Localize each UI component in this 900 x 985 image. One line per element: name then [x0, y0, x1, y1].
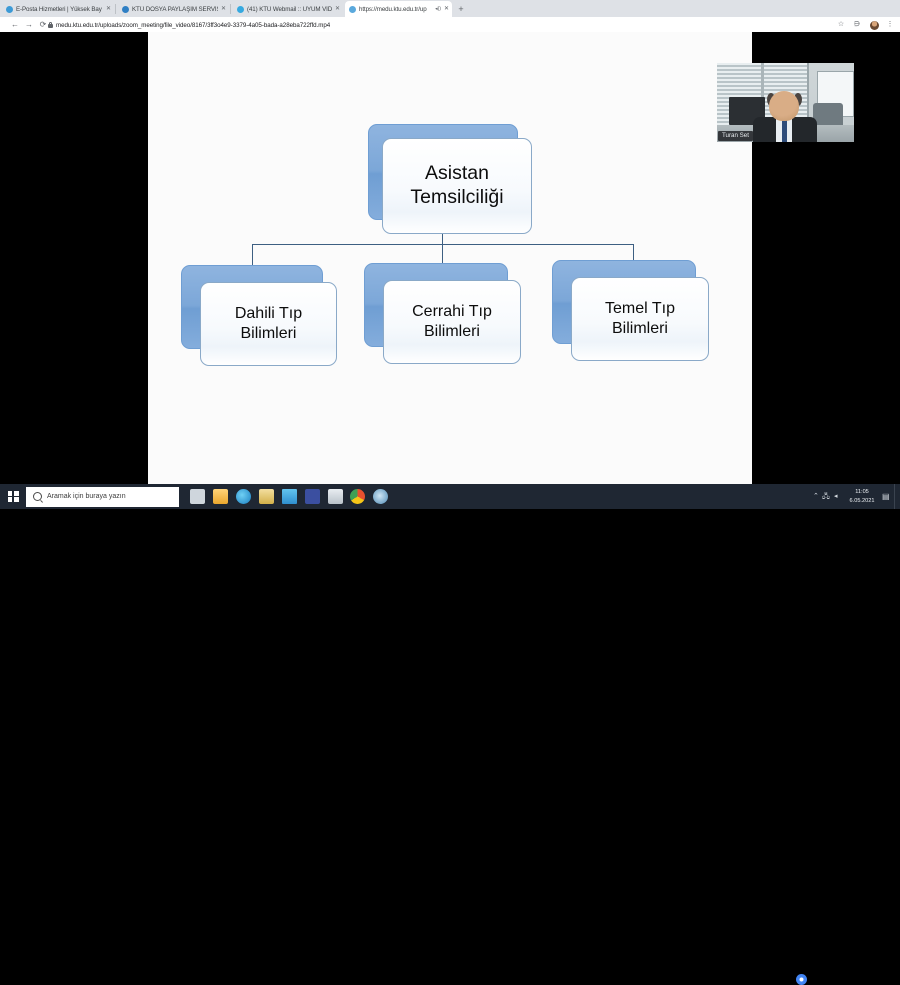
globe-favicon [6, 6, 13, 13]
tab-title: E-Posta Hizmetleri | Yüksek Bay [16, 6, 103, 13]
browser-toolbar: ← → ⟳ medu.ktu.edu.tr/uploads/zoom_meeti… [0, 17, 900, 32]
node-label: Dahili TıpBilimleri [229, 304, 308, 343]
tab-strip: E-Posta Hizmetleri | Yüksek Bay ✕ KTÜ DO… [0, 0, 900, 17]
lock-icon [48, 22, 53, 28]
tab-close-icon[interactable]: ✕ [106, 6, 111, 12]
node-card: AsistanTemsilciliği [382, 138, 532, 234]
browser-tab-2[interactable]: KTÜ DOSYA PAYLAŞIM SERVİSİ ✕ [118, 1, 229, 17]
webcam-overlay: Turan Set [717, 63, 854, 142]
tab-title: KTÜ DOSYA PAYLAŞIM SERVİSİ [132, 6, 218, 13]
tray-network-icon[interactable]: 🖧 [822, 492, 830, 501]
excel-icon[interactable] [328, 489, 343, 504]
browser-tab-4-active[interactable]: https://medu.ktu.edu.tr/up ◂)) ✕ [345, 1, 452, 17]
mail-icon[interactable] [282, 489, 297, 504]
tray-browser-icon[interactable] [796, 974, 807, 985]
globe-favicon [349, 6, 356, 13]
browser-tab-3[interactable]: (41) KTÜ Webmail :: UYUM VİDEO ✕ [233, 1, 343, 17]
node-card: Dahili TıpBilimleri [200, 282, 337, 366]
search-placeholder: Aramak için buraya yazın [47, 493, 126, 500]
connector-drop-left [252, 244, 253, 267]
profile-avatar[interactable] [870, 21, 879, 30]
google-chrome-icon[interactable] [350, 489, 365, 504]
node-card: Temel TıpBilimleri [571, 277, 709, 361]
powerpoint-icon[interactable] [305, 489, 320, 504]
tab-close-icon[interactable]: ✕ [444, 6, 449, 12]
video-player[interactable]: AsistanTemsilciliği Dahili TıpBilimleri … [148, 32, 752, 484]
participant-name-label: Turan Set [718, 131, 753, 141]
browser-chrome: E-Posta Hizmetleri | Yüksek Bay ✕ KTÜ DO… [0, 0, 900, 32]
tab-audio-icon[interactable]: ◂)) [435, 7, 441, 12]
address-bar-url: medu.ktu.edu.tr/uploads/zoom_meeting/fil… [56, 22, 330, 29]
tab-close-icon[interactable]: ✕ [221, 6, 226, 12]
org-node-child-2: Cerrahi TıpBilimleri [364, 263, 508, 347]
org-node-child-3: Temel TıpBilimleri [552, 260, 696, 344]
node-card: Cerrahi TıpBilimleri [383, 280, 521, 364]
slide-org-chart: AsistanTemsilciliği Dahili TıpBilimleri … [148, 32, 752, 484]
browser-menu-icon[interactable]: ⋮ [885, 20, 895, 30]
browser-tab-1[interactable]: E-Posta Hizmetleri | Yüksek Bay ✕ [2, 1, 114, 17]
node-label: Cerrahi TıpBilimleri [406, 302, 498, 341]
new-tab-button[interactable]: + [455, 3, 467, 15]
file-explorer-icon[interactable] [213, 489, 228, 504]
mail-favicon [237, 6, 244, 13]
connector-drop-center [442, 244, 443, 265]
search-icon [33, 492, 42, 501]
reload-button[interactable]: ⟳ [38, 20, 48, 30]
forward-button[interactable]: → [24, 20, 34, 30]
tab-separator [230, 4, 231, 14]
screen: E-Posta Hizmetleri | Yüksek Bay ✕ KTÜ DO… [0, 0, 900, 573]
back-button[interactable]: ← [10, 20, 20, 30]
node-label: AsistanTemsilciliği [404, 162, 509, 210]
tab-title: https://medu.ktu.edu.tr/up [359, 6, 432, 13]
tray-volume-icon[interactable]: ◂ [834, 492, 838, 501]
notification-center-icon[interactable]: ▤ [882, 492, 890, 501]
address-bar[interactable]: medu.ktu.edu.tr/uploads/zoom_meeting/fil… [48, 20, 818, 30]
tab-separator [115, 4, 116, 14]
media-player-icon[interactable] [373, 489, 388, 504]
show-desktop-button[interactable] [894, 484, 900, 509]
windows-start-icon[interactable] [0, 484, 26, 509]
tray-chevron-icon[interactable]: ⌃ [813, 492, 819, 501]
windows-taskbar: Aramak için buraya yazın ⌃ 🖧 ◂ 11:05 6.0… [0, 484, 900, 509]
org-node-child-1: Dahili TıpBilimleri [181, 265, 323, 349]
store-icon[interactable] [259, 489, 274, 504]
taskbar-clock[interactable]: 11:05 6.05.2021 [845, 488, 879, 505]
globe-favicon [122, 6, 129, 13]
task-view-icon[interactable] [190, 489, 205, 504]
taskbar-search-input[interactable]: Aramak için buraya yazın [26, 487, 179, 507]
bookmark-star-icon[interactable]: ☆ [836, 20, 846, 30]
org-node-root: AsistanTemsilciliği [368, 124, 518, 220]
video-page: AsistanTemsilciliği Dahili TıpBilimleri … [0, 32, 900, 484]
clock-date: 6.05.2021 [845, 497, 879, 506]
node-label: Temel TıpBilimleri [599, 299, 681, 338]
person-tie [782, 120, 787, 142]
microsoft-edge-icon[interactable] [236, 489, 251, 504]
tab-close-icon[interactable]: ✕ [335, 6, 340, 12]
person-head [769, 91, 799, 121]
chair [813, 103, 843, 125]
tab-title: (41) KTÜ Webmail :: UYUM VİDEO [247, 6, 332, 13]
extensions-icon[interactable]: ⋻ [852, 20, 862, 30]
clock-time: 11:05 [845, 488, 879, 497]
